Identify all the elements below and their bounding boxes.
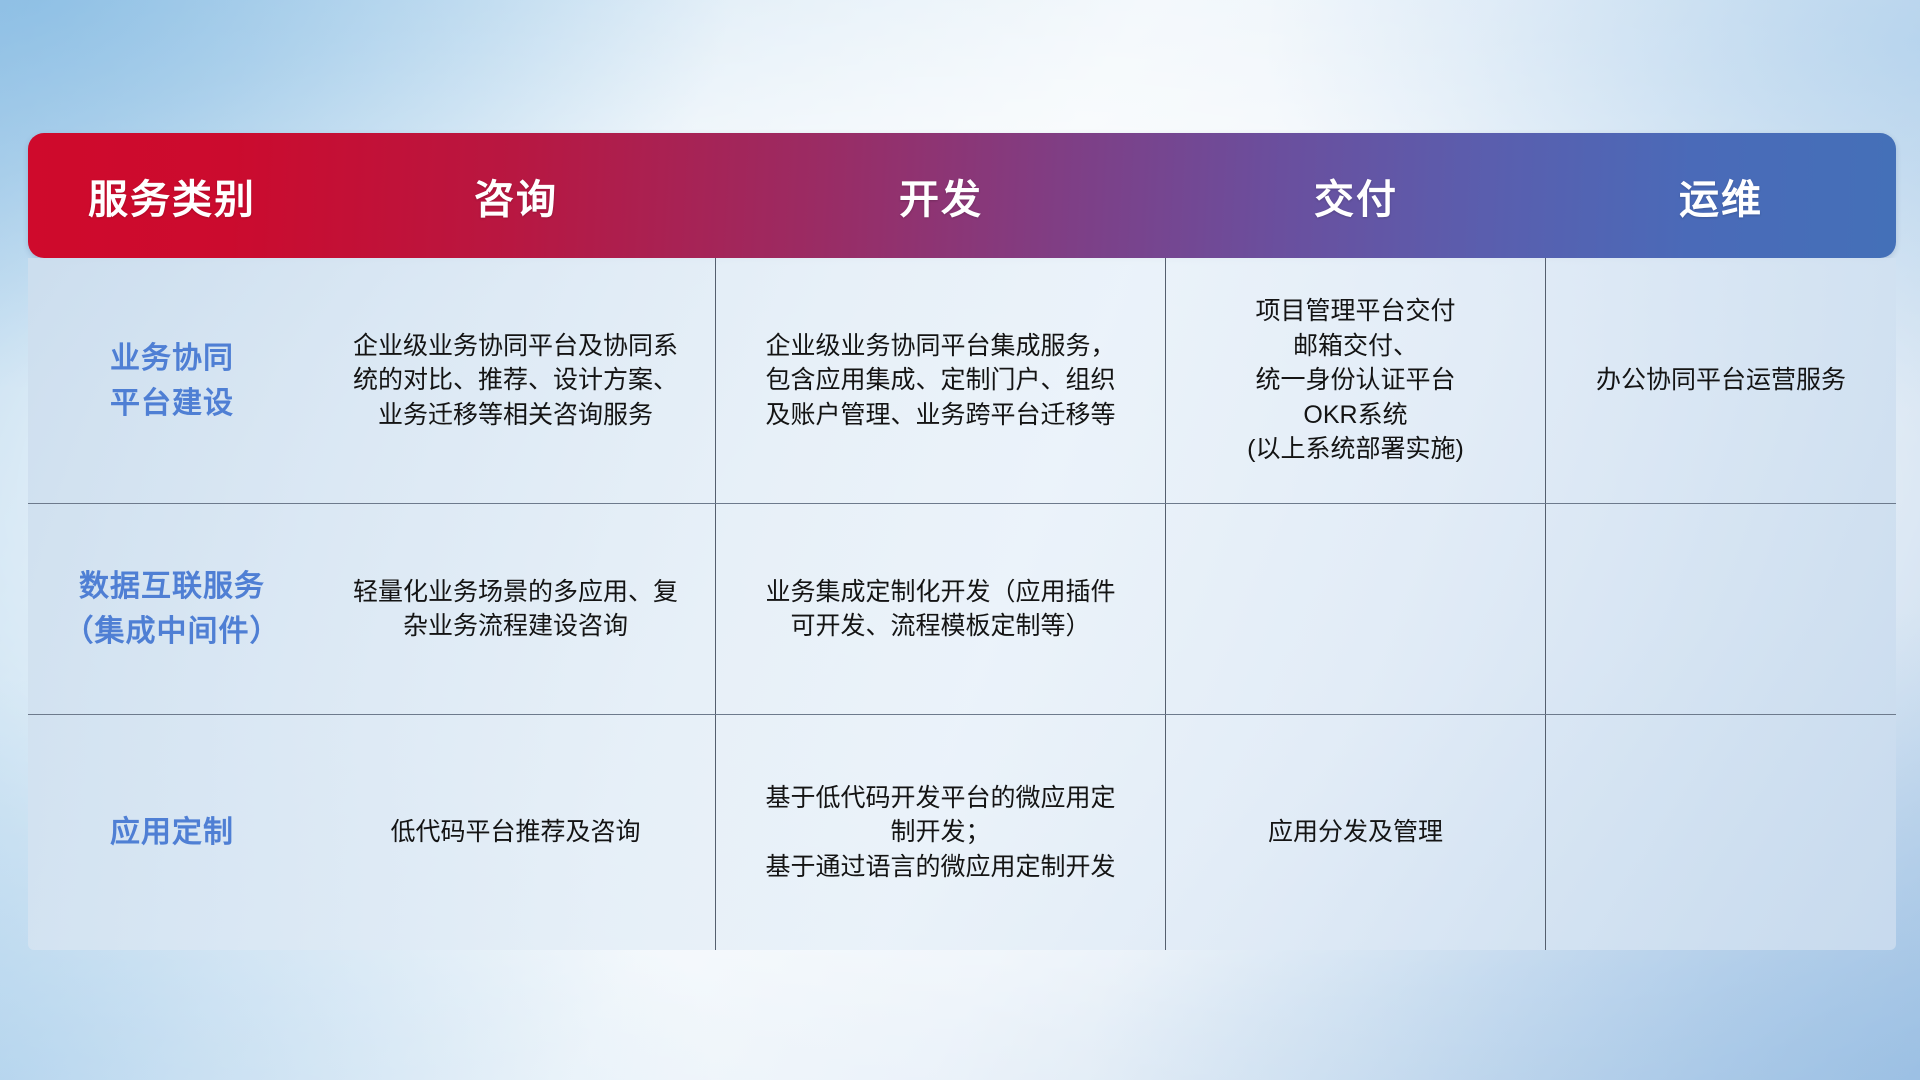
cell-development-row2: 业务集成定制化开发（应用插件 可开发、流程模板定制等）: [716, 504, 1166, 714]
cell-consulting-row2: 轻量化业务场景的多应用、复 杂业务流程建设咨询: [316, 504, 716, 714]
cell-delivery-row3: 应用分发及管理: [1166, 715, 1546, 950]
column-header-delivery: 交付: [1166, 133, 1546, 258]
cell-development-row3: 基于低代码开发平台的微应用定 制开发； 基于通过语言的微应用定制开发: [716, 715, 1166, 950]
column-header-development-label: 开发: [899, 167, 983, 225]
row-label-business-collaboration: 业务协同 平台建设: [28, 258, 316, 503]
service-matrix-table: 服务类别 咨询 开发 交付 运维 业务协同 平台建设 企业级业务协同平台及协同系…: [28, 133, 1896, 950]
table-row: 数据互联服务 （集成中间件） 轻量化业务场景的多应用、复 杂业务流程建设咨询 业…: [28, 504, 1896, 715]
cell-operations-row2: [1546, 504, 1896, 714]
column-header-category: 服务类别: [28, 133, 316, 258]
table-row: 业务协同 平台建设 企业级业务协同平台及协同系 统的对比、推荐、设计方案、 业务…: [28, 258, 1896, 504]
table-header-row: 服务类别 咨询 开发 交付 运维: [28, 133, 1896, 258]
cell-operations-row1: 办公协同平台运营服务: [1546, 258, 1896, 503]
column-header-category-label: 服务类别: [88, 167, 256, 225]
cell-delivery-row2: [1166, 504, 1546, 714]
column-header-consulting-label: 咨询: [474, 167, 558, 225]
table-body: 业务协同 平台建设 企业级业务协同平台及协同系 统的对比、推荐、设计方案、 业务…: [28, 258, 1896, 950]
column-header-operations-label: 运维: [1679, 167, 1763, 225]
column-header-consulting: 咨询: [316, 133, 716, 258]
table-row: 应用定制 低代码平台推荐及咨询 基于低代码开发平台的微应用定 制开发； 基于通过…: [28, 715, 1896, 950]
cell-operations-row3: [1546, 715, 1896, 950]
cell-delivery-row1: 项目管理平台交付 邮箱交付、 统一身份认证平台 OKR系统 (以上系统部署实施): [1166, 258, 1546, 503]
cell-consulting-row3: 低代码平台推荐及咨询: [316, 715, 716, 950]
cell-consulting-row1: 企业级业务协同平台及协同系 统的对比、推荐、设计方案、 业务迁移等相关咨询服务: [316, 258, 716, 503]
slide-canvas: 服务类别 咨询 开发 交付 运维 业务协同 平台建设 企业级业务协同平台及协同系…: [0, 0, 1920, 1080]
row-label-app-customization: 应用定制: [28, 715, 316, 950]
column-header-delivery-label: 交付: [1314, 167, 1398, 225]
row-label-data-interconnect: 数据互联服务 （集成中间件）: [28, 504, 316, 714]
column-header-operations: 运维: [1546, 133, 1896, 258]
cell-development-row1: 企业级业务协同平台集成服务， 包含应用集成、定制门户、组织 及账户管理、业务跨平…: [716, 258, 1166, 503]
column-header-development: 开发: [716, 133, 1166, 258]
